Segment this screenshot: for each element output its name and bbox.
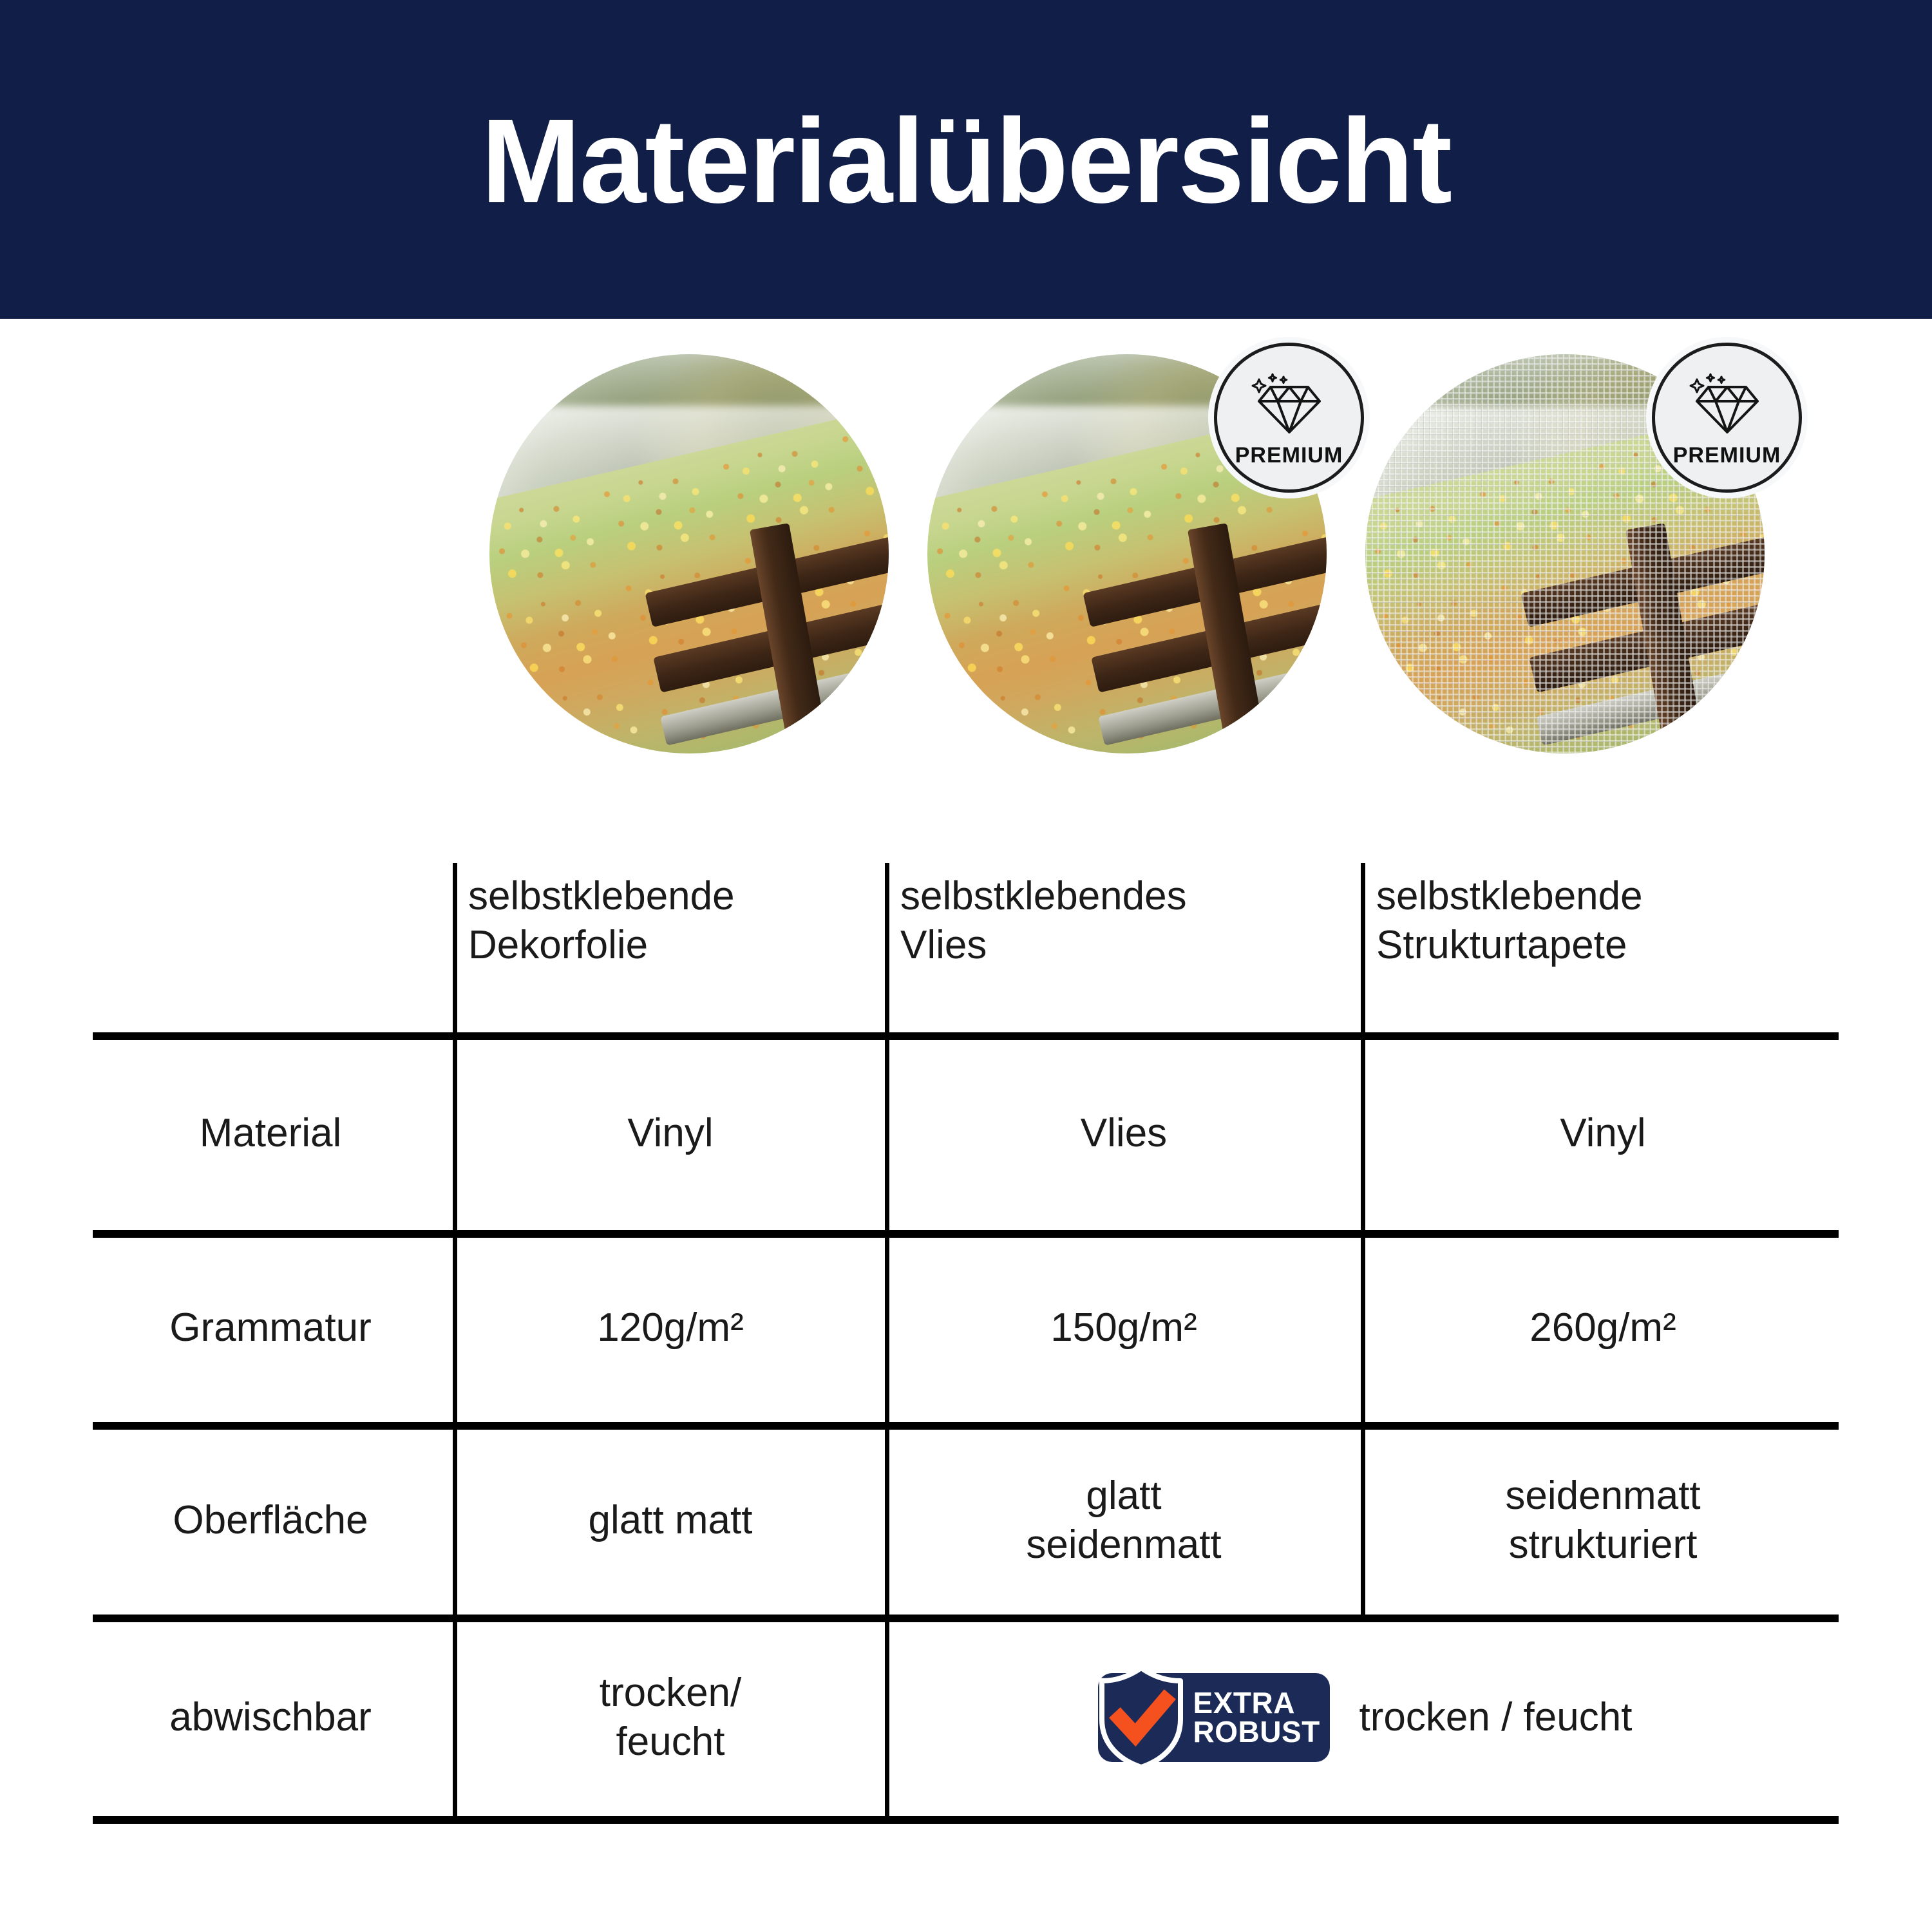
page-header: Materialübersicht: [0, 0, 1932, 319]
page-title: Materialübersicht: [481, 102, 1451, 222]
diamond-icon: [1251, 373, 1327, 440]
table-rule: [93, 1230, 1839, 1238]
cell-oberflaeche-vlies: glatt seidenmatt: [891, 1430, 1356, 1611]
extra-robust-label: EXTRA ROBUST: [1193, 1689, 1320, 1747]
swatch-strukturtapete[interactable]: PREMIUM: [1365, 354, 1765, 753]
cell-grammatur-strukturtapete: 260g/m²: [1367, 1238, 1839, 1418]
extra-robust-badge: EXTRA ROBUST: [1098, 1673, 1330, 1762]
premium-badge-label: PREMIUM: [1673, 444, 1781, 466]
cell-abwischbar-merged: EXTRA ROBUST trocken / feucht: [891, 1622, 1839, 1813]
cell-material-strukturtapete: Vinyl: [1367, 1040, 1839, 1227]
cell-oberflaeche-dekorfolie: glatt matt: [460, 1430, 881, 1611]
material-swatch-row: PREMIUM: [0, 348, 1932, 773]
premium-badge-label: PREMIUM: [1235, 444, 1343, 466]
extra-robust-line2: ROBUST: [1193, 1715, 1320, 1748]
cell-oberflaeche-strukturtapete: seidenmatt strukturiert: [1367, 1430, 1839, 1611]
table-header-line2: Strukturtapete: [1376, 921, 1643, 970]
table-header-line1: selbstklebende: [1376, 872, 1643, 921]
row-label-oberflaeche: Oberfläche: [93, 1430, 448, 1611]
table-header-line1: selbstklebendes: [900, 872, 1187, 921]
swatch-image-dekorfolie: [489, 354, 889, 753]
swatch-vlies[interactable]: PREMIUM: [927, 354, 1327, 753]
table-header-line1: selbstklebende: [468, 872, 735, 921]
table-column-divider: [1361, 863, 1365, 1620]
material-comparison-table: selbstklebende Dekorfolie selbstklebende…: [93, 863, 1839, 1826]
cell-grammatur-vlies: 150g/m²: [891, 1238, 1356, 1418]
table-rule: [93, 1422, 1839, 1430]
cell-abwischbar-dekorfolie: trocken/ feucht: [460, 1622, 881, 1813]
row-label-material: Material: [93, 1040, 448, 1227]
cell-line2: strukturiert: [1505, 1520, 1700, 1569]
table-rule: [93, 1615, 1839, 1622]
cell-material-vlies: Vlies: [891, 1040, 1356, 1227]
table-header-line2: Dekorfolie: [468, 921, 735, 970]
premium-badge: PREMIUM: [1652, 343, 1802, 493]
table-header-line2: Vlies: [900, 921, 1187, 970]
cell-line2: seidenmatt: [1026, 1520, 1221, 1569]
table-rule: [93, 1032, 1839, 1040]
diamond-icon: [1689, 373, 1765, 440]
table-header-strukturtapete: selbstklebende Strukturtapete: [1376, 872, 1827, 1030]
cell-grammatur-dekorfolie: 120g/m²: [460, 1238, 881, 1418]
table-column-divider: [885, 863, 889, 1823]
cell-line2: feucht: [600, 1718, 742, 1766]
cell-line1: trocken/: [600, 1669, 742, 1718]
cell-material-dekorfolie: Vinyl: [460, 1040, 881, 1227]
table-header-dekorfolie: selbstklebende Dekorfolie: [468, 872, 874, 1030]
swatch-dekorfolie[interactable]: [489, 354, 889, 753]
row-label-abwischbar: abwischbar: [93, 1622, 448, 1813]
cell-abwischbar-merged-text: trocken / feucht: [1359, 1693, 1633, 1742]
table-column-divider: [453, 863, 457, 1823]
cell-line1: seidenmatt: [1505, 1472, 1700, 1520]
table-rule: [93, 1816, 1839, 1824]
table-header-vlies: selbstklebendes Vlies: [900, 872, 1351, 1030]
cell-line1: glatt: [1026, 1472, 1221, 1520]
row-label-grammatur: Grammatur: [93, 1238, 448, 1418]
shield-check-icon: [1093, 1664, 1189, 1771]
premium-badge: PREMIUM: [1214, 343, 1364, 493]
